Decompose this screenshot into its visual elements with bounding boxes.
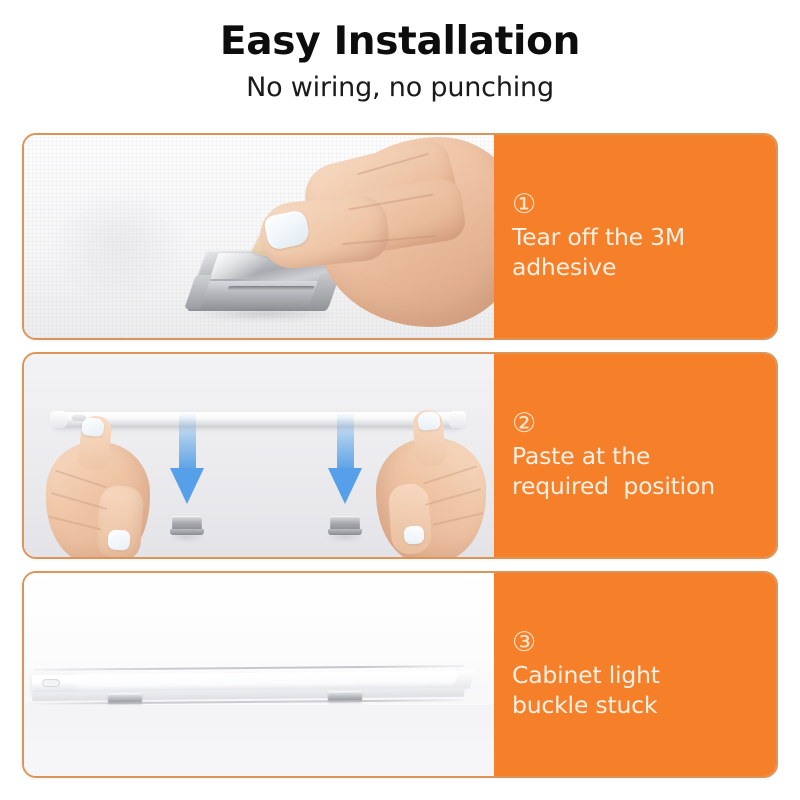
- header: Easy Installation No wiring, no punching: [0, 0, 800, 103]
- left-hand-holding-bar: [46, 416, 166, 557]
- page-title: Easy Installation: [0, 22, 800, 63]
- arrow-shaft: [337, 412, 354, 472]
- installed-led-light-bar: [32, 671, 464, 694]
- step-3-number: ③: [512, 629, 762, 656]
- step-2-text: Paste at the required position: [512, 441, 762, 501]
- step-2-number: ②: [512, 410, 762, 437]
- step-1-text: Tear off the 3M adhesive: [512, 222, 762, 282]
- hand-peeling-adhesive: [260, 135, 494, 338]
- step-2-photo: [24, 354, 494, 557]
- step-3-caption: ③ Cabinet light buckle stuck: [494, 573, 776, 776]
- step-panel-2: ② Paste at the required position: [22, 352, 778, 559]
- cabinet-underside-surface: [24, 573, 494, 671]
- steps-list: ① Tear off the 3M adhesive: [22, 133, 778, 778]
- middle-finger-nail: [107, 529, 130, 550]
- mounted-metal-clip: [172, 516, 202, 538]
- clip-shadow: [169, 534, 205, 540]
- clip-shadow: [327, 534, 363, 540]
- arrow-head: [170, 468, 204, 504]
- step-2-caption: ② Paste at the required position: [494, 354, 776, 557]
- lower-surface-shading: [24, 705, 494, 776]
- light-bar-sensor: [42, 679, 60, 687]
- arrow-head: [328, 468, 362, 504]
- step-panel-1: ① Tear off the 3M adhesive: [22, 133, 778, 340]
- hand-middle-finger: [388, 483, 433, 556]
- step-1-number: ①: [512, 191, 762, 218]
- mounted-metal-clip: [330, 516, 360, 538]
- background-blur-spot: [54, 190, 184, 300]
- middle-finger-nail: [403, 525, 424, 544]
- index-finger-nail: [81, 417, 105, 437]
- step-1-caption: ① Tear off the 3M adhesive: [494, 135, 776, 338]
- index-finger-nail: [417, 411, 440, 431]
- step-3-photo: [24, 573, 494, 776]
- page-subtitle: No wiring, no punching: [0, 72, 800, 103]
- arrow-shaft: [179, 412, 196, 472]
- step-3-text: Cabinet light buckle stuck: [512, 660, 762, 720]
- right-hand-holding-bar: [360, 410, 486, 557]
- step-1-photo: [24, 135, 494, 338]
- step-panel-3: ③ Cabinet light buckle stuck: [22, 571, 778, 778]
- light-bar-diffuser-glow: [78, 672, 454, 685]
